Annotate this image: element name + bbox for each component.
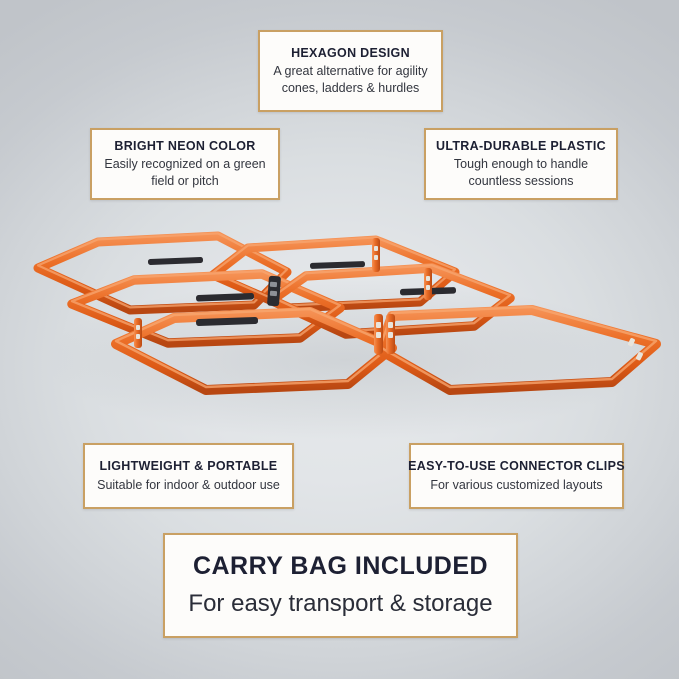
callout-body: Easily recognized on a green field or pi…	[100, 156, 270, 189]
callout-body: A great alternative for agility cones, l…	[268, 63, 433, 96]
connector-post-mid-right	[424, 268, 432, 300]
callout-ultra-durable-plastic: ULTRA-DURABLE PLASTIC Tough enough to ha…	[424, 128, 618, 200]
product-shadow	[45, 280, 645, 440]
callout-carry-bag-included: CARRY BAG INCLUDED For easy transport & …	[163, 533, 518, 638]
hexagon-ring-front-left	[116, 309, 392, 390]
connector-post-upper	[372, 238, 380, 272]
callout-body: Tough enough to handle countless session…	[434, 156, 608, 189]
connector-clip	[196, 317, 258, 326]
callout-body: Suitable for indoor & outdoor use	[97, 477, 280, 494]
connector-slot-right	[627, 338, 643, 361]
hexagon-ring-middle-right	[272, 265, 510, 334]
callout-title: CARRY BAG INCLUDED	[193, 551, 488, 582]
callout-easy-to-use-connector-clips: EASY-TO-USE CONNECTOR CLIPS For various …	[409, 443, 624, 509]
callout-title: BRIGHT NEON COLOR	[114, 139, 255, 155]
callout-title: HEXAGON DESIGN	[291, 46, 410, 62]
infographic-canvas: HEXAGON DESIGN A great alternative for a…	[0, 0, 679, 679]
hexagon-ring-back-right	[371, 250, 622, 312]
connector-clip-center	[267, 276, 281, 307]
hexagon-ring-back-middle	[213, 237, 455, 308]
callout-body: For easy transport & storage	[188, 588, 492, 620]
connector-post-left	[134, 318, 142, 348]
connector-clip	[400, 287, 456, 295]
callout-hexagon-design: HEXAGON DESIGN A great alternative for a…	[258, 30, 443, 112]
callout-title: ULTRA-DURABLE PLASTIC	[436, 139, 606, 155]
callout-title: EASY-TO-USE CONNECTOR CLIPS	[408, 459, 625, 475]
callout-bright-neon-color: BRIGHT NEON COLOR Easily recognized on a…	[90, 128, 280, 200]
callout-title: LIGHTWEIGHT & PORTABLE	[100, 459, 278, 475]
connector-clip	[310, 261, 365, 269]
connector-clip	[148, 257, 203, 265]
connector-hinge-front	[374, 314, 395, 354]
hexagon-ring-upper-right	[372, 240, 618, 320]
hexagon-ring-back-left	[38, 233, 287, 310]
callout-body: For various customized layouts	[430, 477, 602, 494]
hexagon-ring-front-right	[380, 307, 656, 390]
hexagon-ring-middle-left	[72, 271, 340, 343]
callout-lightweight-portable: LIGHTWEIGHT & PORTABLE Suitable for indo…	[83, 443, 294, 509]
connector-clip	[196, 293, 254, 302]
